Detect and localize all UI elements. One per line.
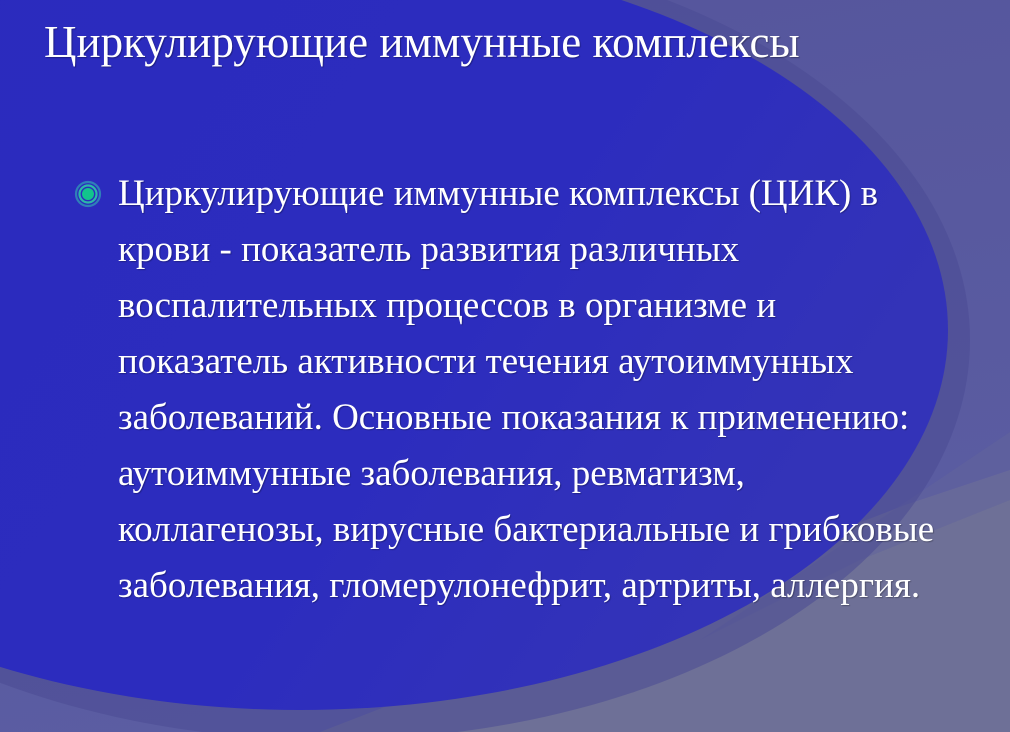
bullet-list-item: Циркулирующие иммунные комплексы (ЦИК) в… xyxy=(74,166,954,614)
slide-content: Циркулирующие иммунные комплексы Циркули… xyxy=(0,0,1010,732)
presentation-slide: Циркулирующие иммунные комплексы Циркули… xyxy=(0,0,1010,732)
ring-bullet-icon xyxy=(74,180,102,208)
slide-title: Циркулирующие иммунные комплексы xyxy=(44,12,844,72)
bullet-body-text: Циркулирующие иммунные комплексы (ЦИК) в… xyxy=(118,166,954,614)
